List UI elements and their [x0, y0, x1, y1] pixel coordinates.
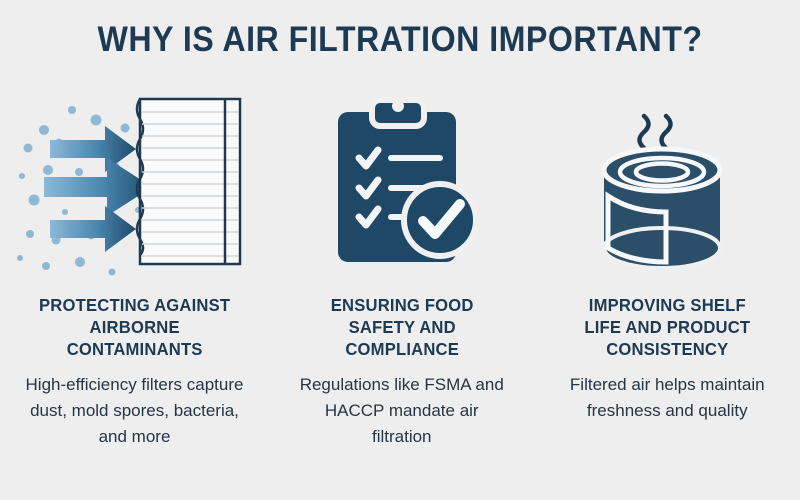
steam-line-right [662, 116, 671, 148]
steam-line-left [640, 116, 649, 148]
page-title: WHY IS AIR FILTRATION IMPORTANT? [32, 20, 768, 60]
infographic-root: WHY IS AIR FILTRATION IMPORTANT? [0, 0, 800, 500]
column-3-heading-line-2: LIFE AND PRODUCT [584, 316, 750, 338]
column-1-heading: PROTECTING AGAINST AIRBORNE CONTAMINANTS [39, 294, 230, 360]
icon-container-2 [281, 90, 523, 280]
column-3-heading-line-3: CONSISTENCY [584, 338, 750, 360]
clipboard-checklist-icon [312, 90, 492, 280]
filter-panel [137, 99, 240, 264]
column-2-heading-line-2: SAFETY AND [330, 316, 473, 338]
approval-check-badge [404, 184, 476, 256]
column-improving-shelf-life-and-product-consistency: IMPROVING SHELF LIFE AND PRODUCT CONSIST… [535, 90, 800, 424]
column-1-heading-line-1: PROTECTING AGAINST [39, 294, 230, 316]
column-1-body: High-efficiency filters capture dust, mo… [15, 372, 255, 450]
air-filter-icon [12, 90, 257, 280]
airflow-arrow-middle [44, 158, 152, 216]
column-1-heading-line-2: AIRBORNE [39, 316, 230, 338]
icon-container-1 [12, 90, 257, 280]
icon-container-3 [547, 90, 789, 280]
can-body [604, 149, 720, 268]
column-ensuring-food-safety-and-compliance: ENSURING FOOD SAFETY AND COMPLIANCE Regu… [269, 90, 535, 450]
column-2-body: Regulations like FSMA and HACCP mandate … [294, 372, 509, 450]
clipboard-clip-hole [392, 100, 404, 112]
steam-lines-group [640, 116, 671, 148]
column-2-heading: ENSURING FOOD SAFETY AND COMPLIANCE [330, 294, 473, 360]
column-3-heading-line-1: IMPROVING SHELF [584, 294, 750, 316]
column-1-heading-line-3: CONTAMINANTS [39, 338, 230, 360]
column-protecting-against-airborne-contaminants: PROTECTING AGAINST AIRBORNE CONTAMINANTS… [0, 90, 269, 450]
column-3-heading: IMPROVING SHELF LIFE AND PRODUCT CONSIST… [584, 294, 750, 360]
airflow-arrow-top [50, 126, 136, 172]
column-2-heading-line-3: COMPLIANCE [330, 338, 473, 360]
column-2-heading-line-1: ENSURING FOOD [330, 294, 473, 316]
food-can-steam-icon [582, 90, 752, 280]
columns-container: PROTECTING AGAINST AIRBORNE CONTAMINANTS… [0, 90, 800, 450]
column-3-body: Filtered air helps maintain freshness an… [562, 372, 772, 424]
